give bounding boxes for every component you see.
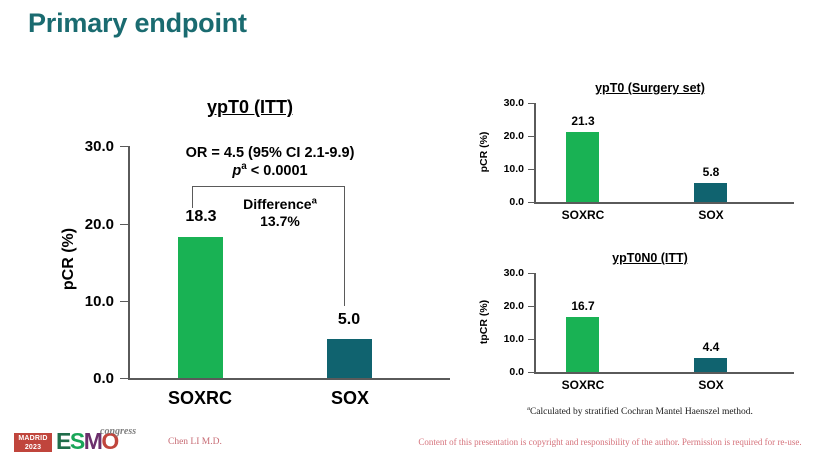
- y-tick-20: [528, 136, 535, 137]
- bar-value-sox: 5.0: [308, 311, 390, 329]
- annotation-p-value: pa < 0.0001: [150, 163, 390, 179]
- y-tick-label-0: 0.0: [474, 196, 524, 208]
- y-tick-10: [528, 339, 535, 340]
- y-tick-10: [528, 169, 535, 170]
- y-tick-label-20: 20.0: [474, 130, 524, 142]
- y-tick-20: [120, 224, 129, 225]
- slide-canvas: Primary endpoint ypT0 (ITT) pCR (%) 30.0…: [0, 0, 832, 468]
- difference-label-text: Difference: [243, 196, 311, 212]
- y-tick-label-10: 10.0: [48, 293, 114, 310]
- bar-soxrc: [566, 132, 599, 202]
- x-category-label-sox: SOX: [671, 208, 751, 222]
- y-tick-label-30: 30.0: [474, 97, 524, 109]
- y-tick-0: [528, 372, 535, 373]
- footnote: aCalculated by stratified Cochran Mantel…: [460, 407, 820, 417]
- copyright-notice: Content of this presentation is copyrigh…: [400, 437, 820, 447]
- y-tick-label-30: 30.0: [474, 267, 524, 279]
- esmo-letter-e: E: [56, 428, 70, 454]
- chart-ypt0-itt: ypT0 (ITT) pCR (%) 30.0 20.0 10.0 0.0 18…: [0, 0, 460, 420]
- annotation-difference-label: Differencea: [215, 196, 345, 212]
- esmo-letter-m: M: [84, 428, 102, 454]
- y-tick-0: [528, 202, 535, 203]
- congress-wordmark: congress: [100, 426, 136, 437]
- annotation-difference-value: 13.7%: [215, 213, 345, 229]
- bar-value-soxrc: 21.3: [552, 114, 614, 128]
- x-category-label-sox: SOX: [300, 388, 400, 409]
- y-tick-0: [120, 378, 129, 379]
- bar-soxrc: [178, 237, 223, 379]
- badge-city: MADRID: [14, 434, 52, 443]
- x-category-label-soxrc: SOXRC: [150, 388, 250, 409]
- y-tick-10: [120, 301, 129, 302]
- annotation-p-italic: p: [232, 163, 241, 179]
- x-category-label-sox: SOX: [671, 378, 751, 392]
- y-axis-title: pCR (%): [478, 115, 490, 189]
- difference-label-superscript: a: [312, 195, 317, 206]
- y-axis-title: tpCR (%): [478, 283, 490, 361]
- chart-title-ypt0-itt: ypT0 (ITT): [120, 97, 380, 118]
- y-tick-30: [528, 103, 535, 104]
- y-tick-label-20: 20.0: [48, 216, 114, 233]
- bar-sox: [327, 339, 372, 378]
- chart-ypt0n0-itt: ypT0N0 (ITT) tpCR (%) 30.0 20.0 10.0 0.0…: [460, 248, 832, 418]
- bar-soxrc: [566, 317, 599, 372]
- y-axis-line: [128, 146, 130, 379]
- y-tick-30: [120, 146, 129, 147]
- badge-year: 2023: [14, 443, 52, 452]
- y-axis-line: [534, 103, 536, 203]
- annotation-odds-ratio: OR = 4.5 (95% CI 2.1-9.9): [150, 145, 390, 161]
- y-axis-line: [534, 273, 536, 373]
- annotation-p-rest: < 0.0001: [247, 163, 308, 179]
- x-axis-line: [534, 372, 794, 374]
- chart-title-ypt0n0-itt: ypT0N0 (ITT): [520, 251, 780, 265]
- bar-sox: [694, 358, 727, 373]
- esmo-letter-s: S: [70, 428, 84, 454]
- chart-ypt0-surgery-set: ypT0 (Surgery set) pCR (%) 30.0 20.0 10.…: [460, 78, 832, 248]
- y-tick-label-20: 20.0: [474, 300, 524, 312]
- esmo-congress-logo: MADRID 2023 ESMO congress: [14, 428, 144, 456]
- difference-bracket-top: [192, 186, 344, 187]
- x-axis-line: [534, 202, 794, 204]
- y-tick-20: [528, 306, 535, 307]
- madrid-2023-badge: MADRID 2023: [14, 433, 52, 452]
- bar-value-soxrc: 16.7: [552, 299, 614, 313]
- y-tick-label-0: 0.0: [48, 370, 114, 387]
- footnote-text: Calculated by stratified Cochran Mantel …: [530, 407, 753, 417]
- difference-bracket-left: [192, 186, 193, 208]
- chart-title-ypt0-surgery-set: ypT0 (Surgery set): [520, 81, 780, 95]
- y-tick-label-30: 30.0: [48, 138, 114, 155]
- x-category-label-soxrc: SOXRC: [543, 378, 623, 392]
- y-tick-label-10: 10.0: [474, 333, 524, 345]
- bar-value-sox: 4.4: [680, 340, 742, 354]
- bar-value-sox: 5.8: [680, 165, 742, 179]
- x-axis-line: [128, 378, 450, 380]
- y-tick-30: [528, 273, 535, 274]
- bar-sox: [694, 183, 727, 202]
- y-tick-label-10: 10.0: [474, 163, 524, 175]
- presenter-name: Chen LI M.D.: [168, 437, 222, 447]
- y-tick-label-0: 0.0: [474, 366, 524, 378]
- x-category-label-soxrc: SOXRC: [543, 208, 623, 222]
